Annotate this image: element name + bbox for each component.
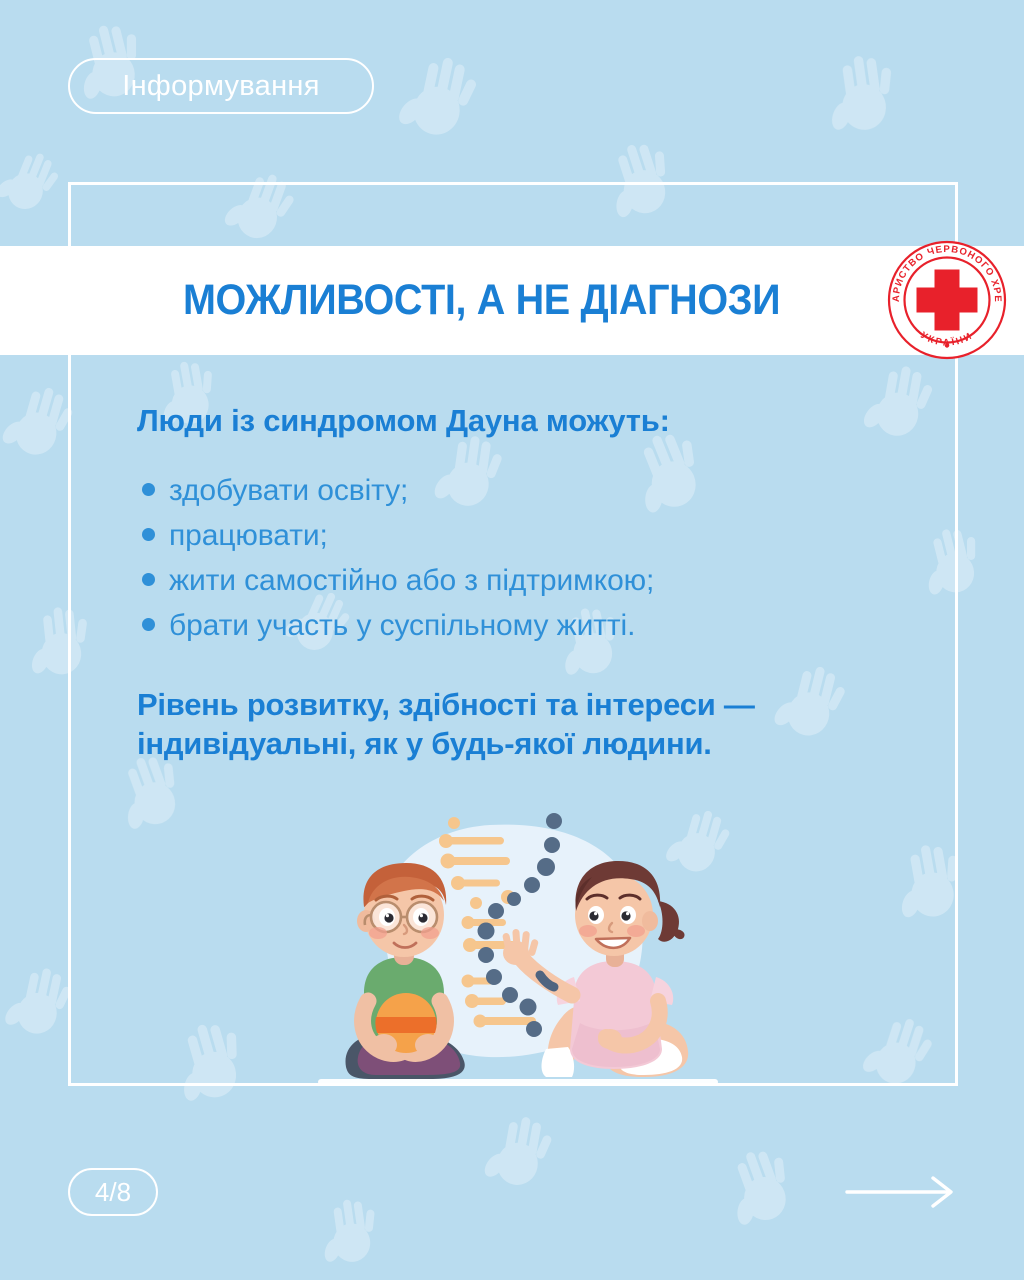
page-indicator-label: 4/8 — [95, 1179, 131, 1205]
next-slide-arrow[interactable] — [845, 1172, 958, 1212]
list-item-label: здобувати освіту; — [169, 473, 408, 509]
illustration-children-dna — [318, 805, 718, 1095]
category-badge: Інформування — [68, 58, 374, 114]
category-badge-label: Інформування — [122, 72, 320, 101]
bullet-dot-icon — [142, 618, 155, 631]
list-item: здобувати освіту; — [137, 473, 897, 509]
closing-text: Рівень розвитку, здібності та інтереси —… — [137, 685, 867, 763]
content-block: Люди із синдромом Дауна можуть: здобуват… — [137, 404, 897, 763]
bullet-dot-icon — [142, 573, 155, 586]
list-item: працювати; — [137, 518, 897, 554]
list-item-label: працювати; — [169, 518, 328, 554]
list-item: брати участь у суспільному житті. — [137, 608, 897, 644]
list-item-label: жити самостійно або з підтримкою; — [169, 563, 654, 599]
capabilities-list: здобувати освіту; працювати; жити самост… — [137, 473, 897, 644]
list-item: жити самостійно або з підтримкою; — [137, 563, 897, 599]
bullet-dot-icon — [142, 483, 155, 496]
bullet-dot-icon — [142, 528, 155, 541]
page-indicator: 4/8 — [68, 1168, 158, 1216]
title-band: МОЖЛИВОСТІ, А НЕ ДІАГНОЗИ — [0, 246, 1024, 355]
slide-root: Інформування МОЖЛИВОСТІ, А НЕ ДІАГНОЗИ Т… — [0, 0, 1024, 1280]
list-item-label: брати участь у суспільному житті. — [169, 608, 635, 644]
lead-text: Люди із синдромом Дауна можуть: — [137, 404, 897, 439]
page-title: МОЖЛИВОСТІ, А НЕ ДІАГНОЗИ — [183, 276, 780, 325]
red-cross-emblem: ТОВАРИСТВО ЧЕРВОНОГО ХРЕСТА УКРАЇНИ — [886, 239, 1008, 361]
arrow-right-icon — [845, 1172, 958, 1212]
